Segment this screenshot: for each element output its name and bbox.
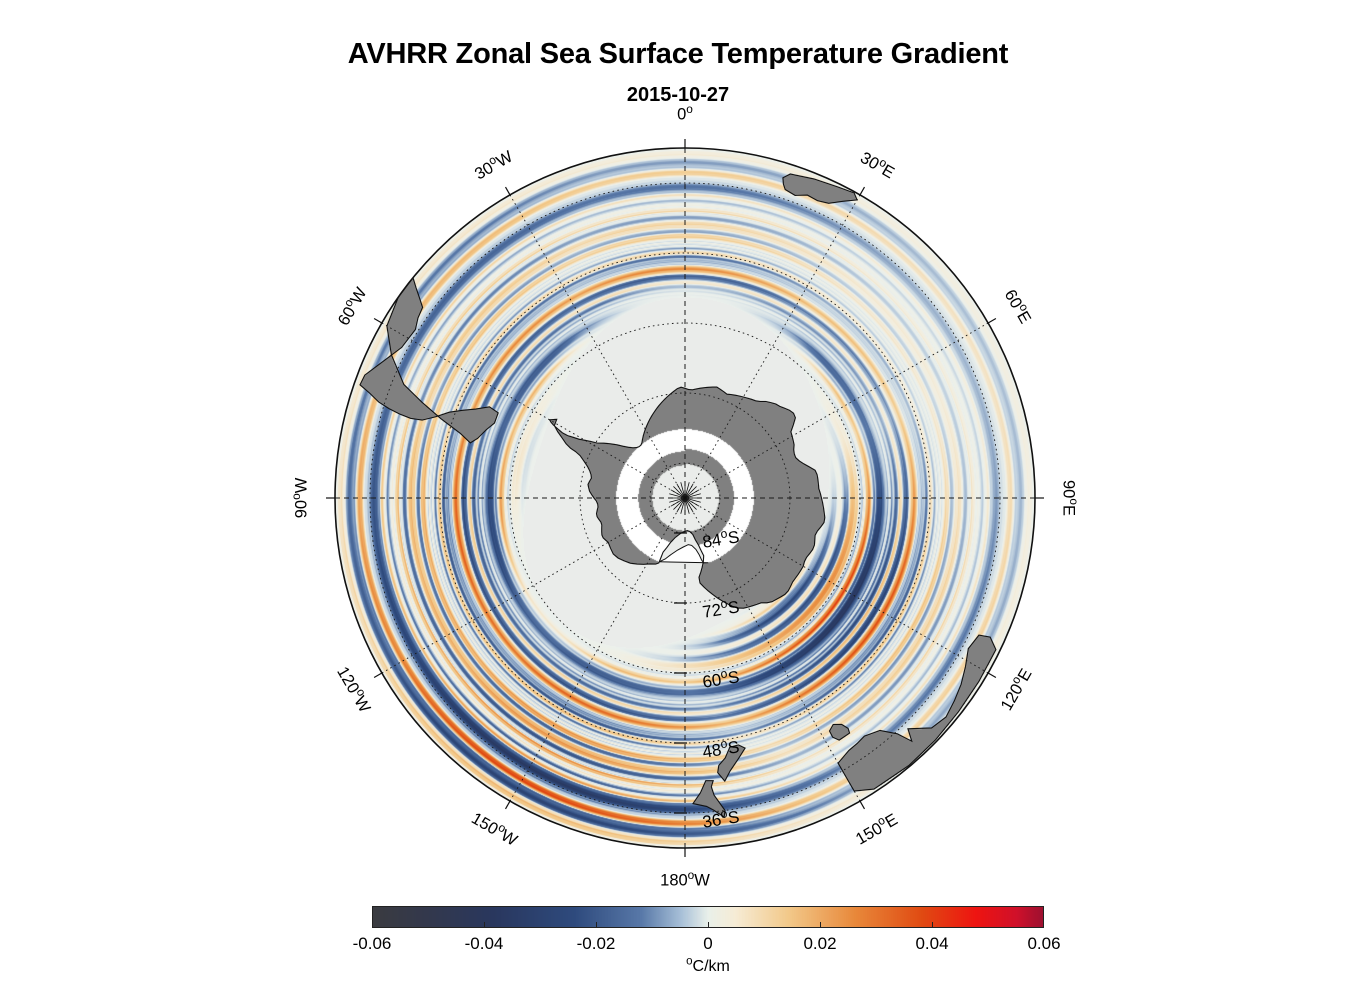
colorbar-tick [820,922,821,928]
colorbar: -0.06-0.04-0.0200.020.040.06 [372,906,1044,928]
meridian-line [685,195,860,498]
longitude-tick [506,187,511,195]
longitude-tick [860,801,865,809]
longitude-label-180W: 180oW [660,872,710,891]
coastline [830,724,850,740]
meridian-line [510,195,685,498]
colorbar-unit-label: oC/km [372,958,1044,976]
colorbar-tick [596,922,597,928]
map-overlay [335,148,1035,848]
longitude-label-90W: 90oW [293,478,312,519]
longitude-tick [374,319,382,324]
meridian-line [382,498,685,673]
colorbar-tick [932,922,933,928]
colorbar-tick-label: 0.06 [1027,934,1060,954]
colorbar-tick-label: -0.06 [353,934,392,954]
meridian-line [382,323,685,498]
longitude-tick [860,187,865,195]
coastline [838,635,996,791]
colorbar-tick-label: 0.04 [915,934,948,954]
longitude-tick [988,319,996,324]
colorbar-tick-label: -0.02 [577,934,616,954]
longitude-tick [374,673,382,678]
colorbar-tick [484,922,485,928]
figure-title: AVHRR Zonal Sea Surface Temperature Grad… [0,38,1356,71]
coastline [783,174,857,203]
longitude-tick [506,801,511,809]
figure-subtitle: 2015-10-27 [0,84,1356,107]
longitude-tick [988,673,996,678]
colorbar-tick-label: 0 [703,934,712,954]
longitude-label-0N: 0o [677,106,693,125]
polar-map [335,148,1035,848]
longitude-label-90E: 90oE [1059,480,1078,516]
colorbar-tick-label: 0.02 [803,934,836,954]
colorbar-tick [708,922,709,928]
meridian-line [510,498,685,801]
figure-root: AVHRR Zonal Sea Surface Temperature Grad… [0,0,1356,1000]
meridian-line [685,323,988,498]
coastline [360,278,498,443]
colorbar-tick-label: -0.04 [465,934,504,954]
